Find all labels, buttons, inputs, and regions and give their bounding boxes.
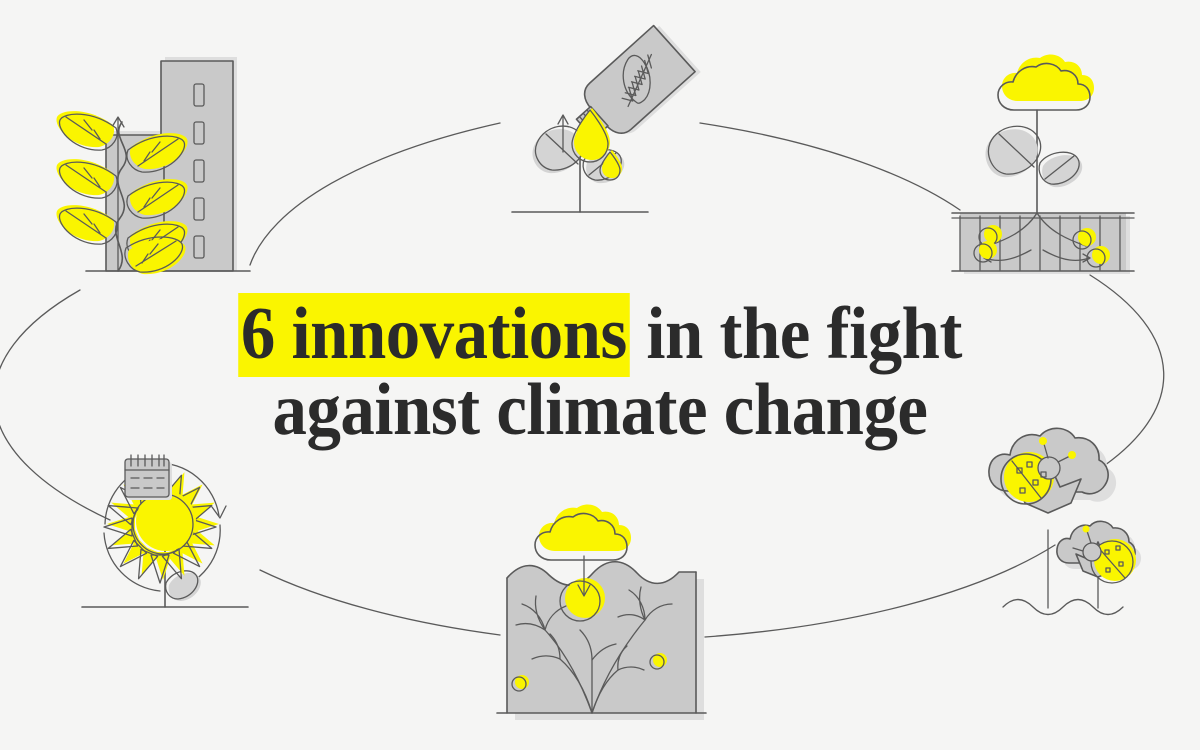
fertiliser-bottle-illustration (512, 23, 701, 212)
ladybug-biocontrol-illustration (989, 428, 1141, 614)
crop-rotation-illustration (82, 455, 248, 607)
soil-carbon-capture-illustration (952, 55, 1134, 274)
yellow-cloud-bottom (535, 505, 631, 560)
page-headline: 6 innovations in the fight against clima… (0, 296, 1200, 448)
headline-line-1-rest: in the fight (630, 293, 962, 375)
headline-highlight: 6 innovations (238, 293, 630, 377)
headline-line-2: against climate change (42, 372, 1158, 448)
yellow-cloud-top (998, 55, 1094, 110)
calendar-icon (125, 455, 172, 500)
headline-line-1: 6 innovations in the fight (42, 296, 1158, 372)
seaweed-carbon-sink-illustration (497, 505, 706, 720)
vertical-farming-illustration (56, 57, 250, 274)
infographic-canvas: .ln { fill:none; stroke:#5a5a5a; stroke-… (0, 0, 1200, 750)
